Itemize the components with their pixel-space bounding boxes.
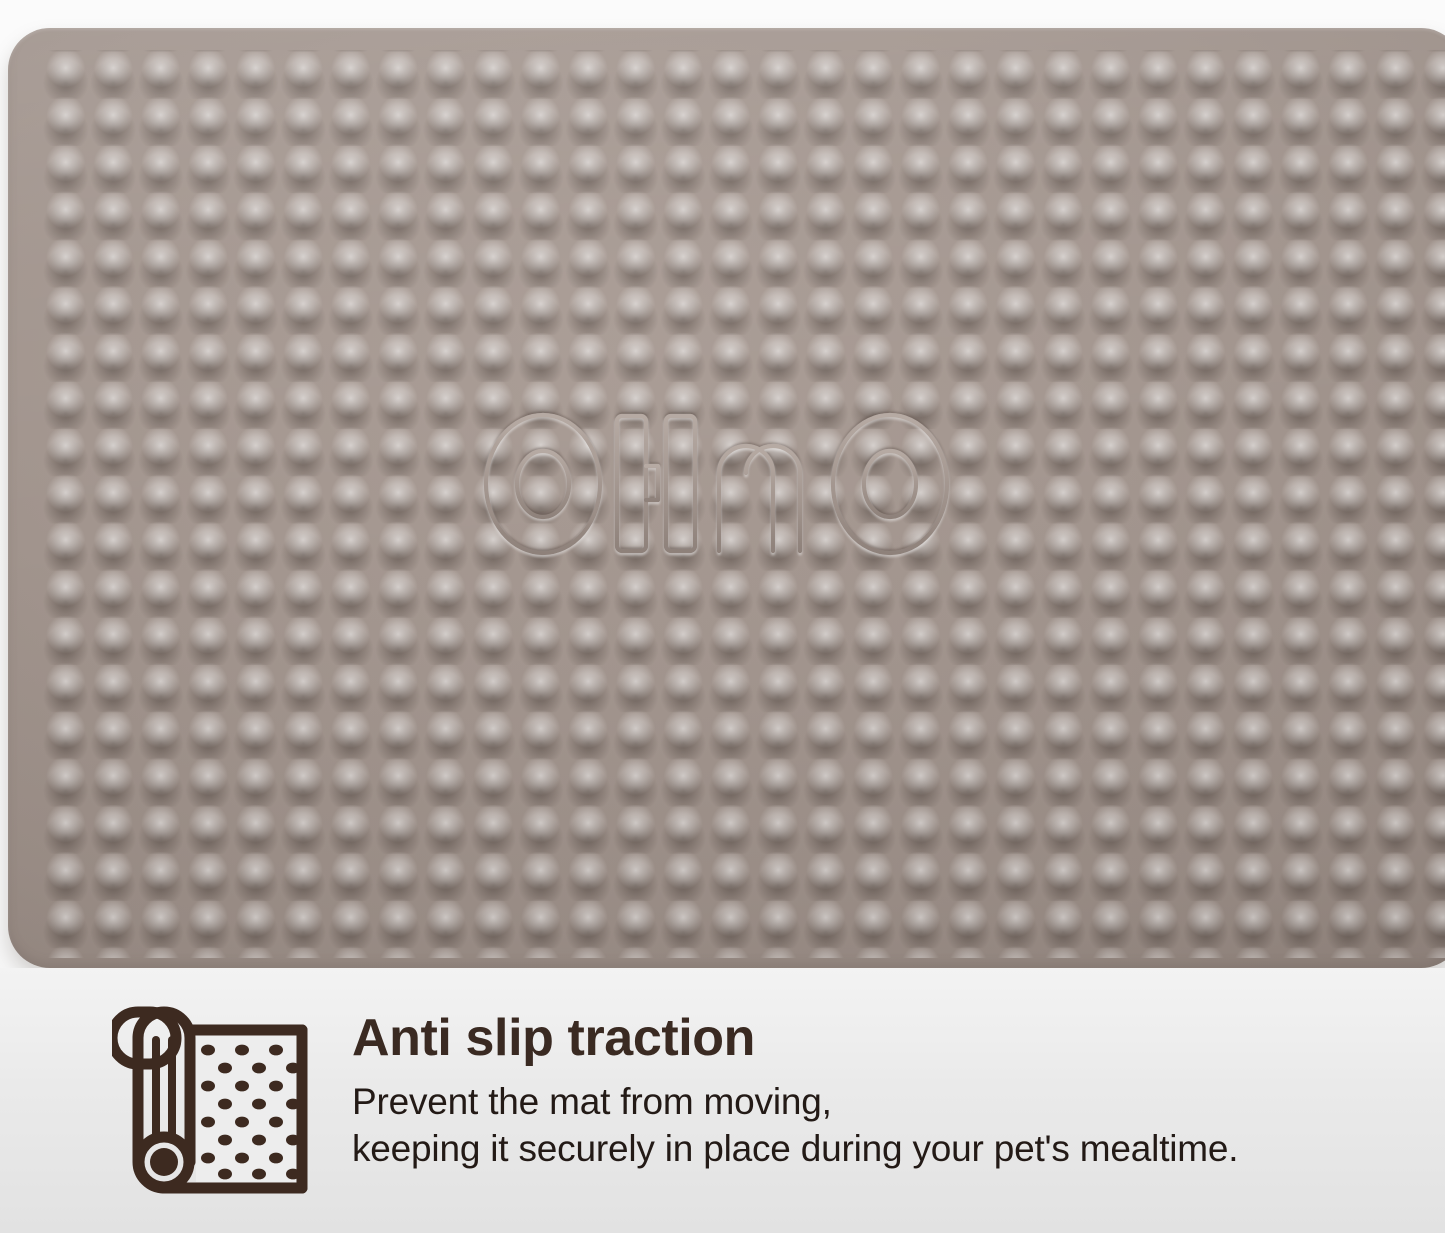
mat-surface-sheen — [8, 28, 1445, 968]
feature-description-line-1: Prevent the mat from moving, — [352, 1078, 1412, 1125]
feature-description-line-2: keeping it securely in place during your… — [352, 1125, 1412, 1172]
feature-title: Anti slip traction — [352, 1008, 1412, 1068]
feature-text-block: Anti slip traction Prevent the mat from … — [352, 1008, 1412, 1172]
rolled-textured-mat-icon — [112, 1000, 320, 1200]
mat-dot-texture — [42, 50, 1445, 958]
feature-description: Prevent the mat from moving, keeping it … — [352, 1078, 1412, 1172]
product-feature-image: Anti slip traction Prevent the mat from … — [0, 0, 1445, 1233]
product-photo-area — [0, 0, 1445, 975]
silicone-mat — [8, 28, 1445, 968]
